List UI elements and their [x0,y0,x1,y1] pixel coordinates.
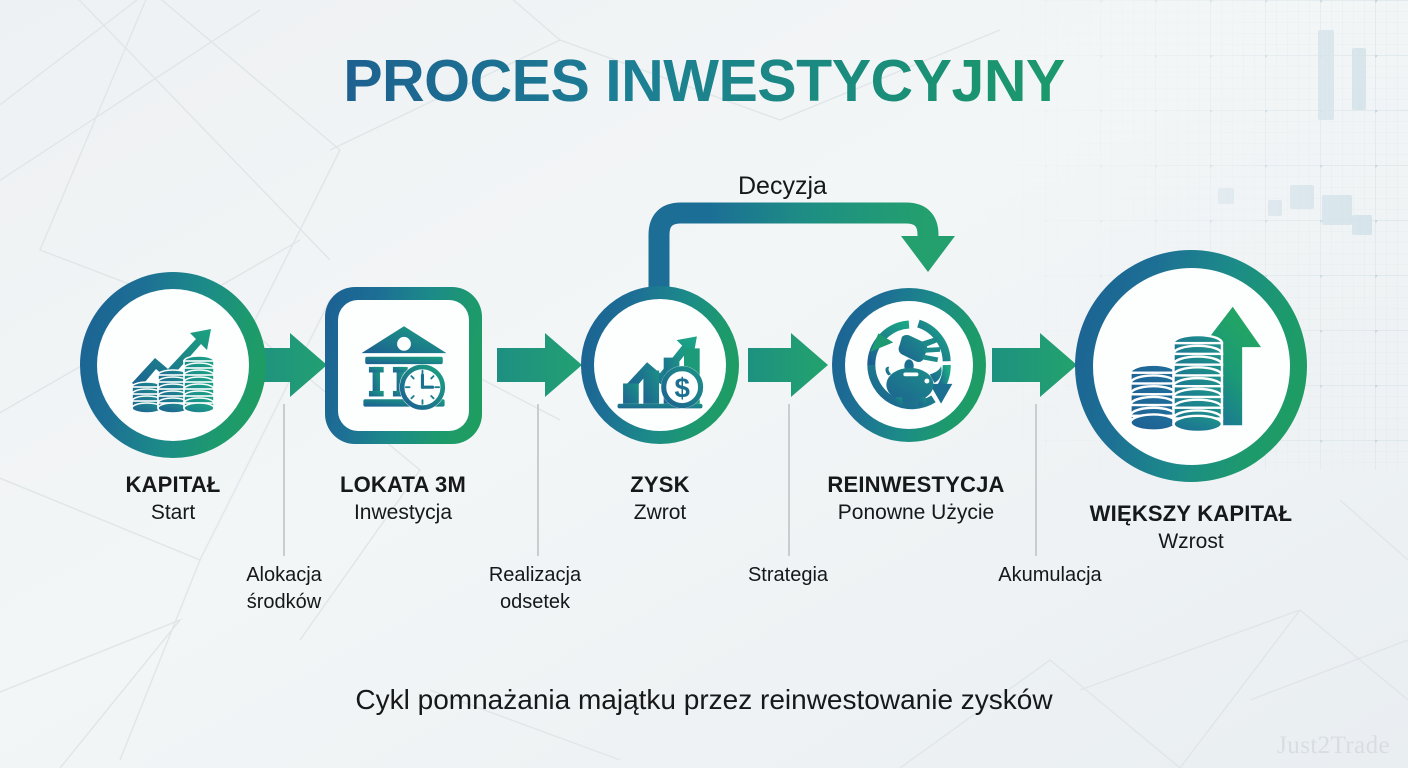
node-reinwestycja-ring [832,288,986,442]
page-title: PROCES INWESTYCYJNY [0,52,1408,111]
node-lokata-label: LOKATA 3M Inwestycja [253,472,553,527]
arrow-zysk-to-reinwestycja [748,333,828,397]
node-lokata-ring [325,287,482,444]
decision-loop-arrow [659,213,955,300]
svg-text:$: $ [674,372,689,403]
connector-caption-realizacja: Realizacja odsetek [415,562,655,616]
node-reinwestycja-inner [845,301,973,429]
coins-up-arrow-icon [1121,296,1261,436]
connector-caption-akumulacja: Akumulacja [930,562,1170,589]
node-kapital-inner [97,289,249,441]
connector-strategia-line1: Strategia [668,562,908,589]
node-kapital-ring [80,272,266,458]
connector-caption-alokacja: Alokacja środków [164,562,404,616]
connector-caption-strategia: Strategia [668,562,908,589]
bar-chart-dollar-icon: $ [612,317,708,413]
node-lokata-sub: Inwestycja [253,500,553,526]
node-zysk-sub: Zwrot [510,500,810,526]
node-lokata-inner [338,300,469,431]
node-reinwestycja-title: REINWESTYCJA [766,472,1066,497]
node-wiekszy-label: WIĘKSZY KAPITAŁ Wzrost [1041,501,1341,556]
coins-growth-arrow-icon [121,313,225,417]
connector-realizacja-line2: odsetek [415,589,655,616]
connector-alokacja-line1: Alokacja [164,562,404,589]
piggy-bank-recycle-icon [860,316,958,414]
node-zysk-ring: $ [581,286,739,444]
bottom-caption: Cykl pomnażania majątku przez reinwestow… [0,684,1408,716]
node-wiekszy-sub: Wzrost [1041,529,1341,555]
node-wiekszy-inner [1093,268,1290,465]
node-lokata-title: LOKATA 3M [253,472,553,497]
arrow-lokata-to-zysk [497,333,582,397]
node-reinwestycja-label: REINWESTYCJA Ponowne Użycie [766,472,1066,527]
arrow-reinwestycja-to-wiekszy [992,333,1077,397]
watermark: Just2Trade [1277,732,1390,760]
bank-clock-icon [356,318,452,414]
decision-loop-label: Decyzja [738,172,827,201]
node-zysk-inner: $ [594,299,726,431]
node-zysk-title: ZYSK [510,472,810,497]
connector-akumulacja-line1: Akumulacja [930,562,1170,589]
node-zysk-label: ZYSK Zwrot [510,472,810,527]
connector-alokacja-line2: środków [164,589,404,616]
node-wiekszy-title: WIĘKSZY KAPITAŁ [1041,501,1341,526]
node-reinwestycja-sub: Ponowne Użycie [766,500,1066,526]
connector-realizacja-line1: Realizacja [415,562,655,589]
infographic-canvas: PROCES INWESTYCYJNY [0,0,1408,768]
node-wiekszy-ring [1075,250,1307,482]
